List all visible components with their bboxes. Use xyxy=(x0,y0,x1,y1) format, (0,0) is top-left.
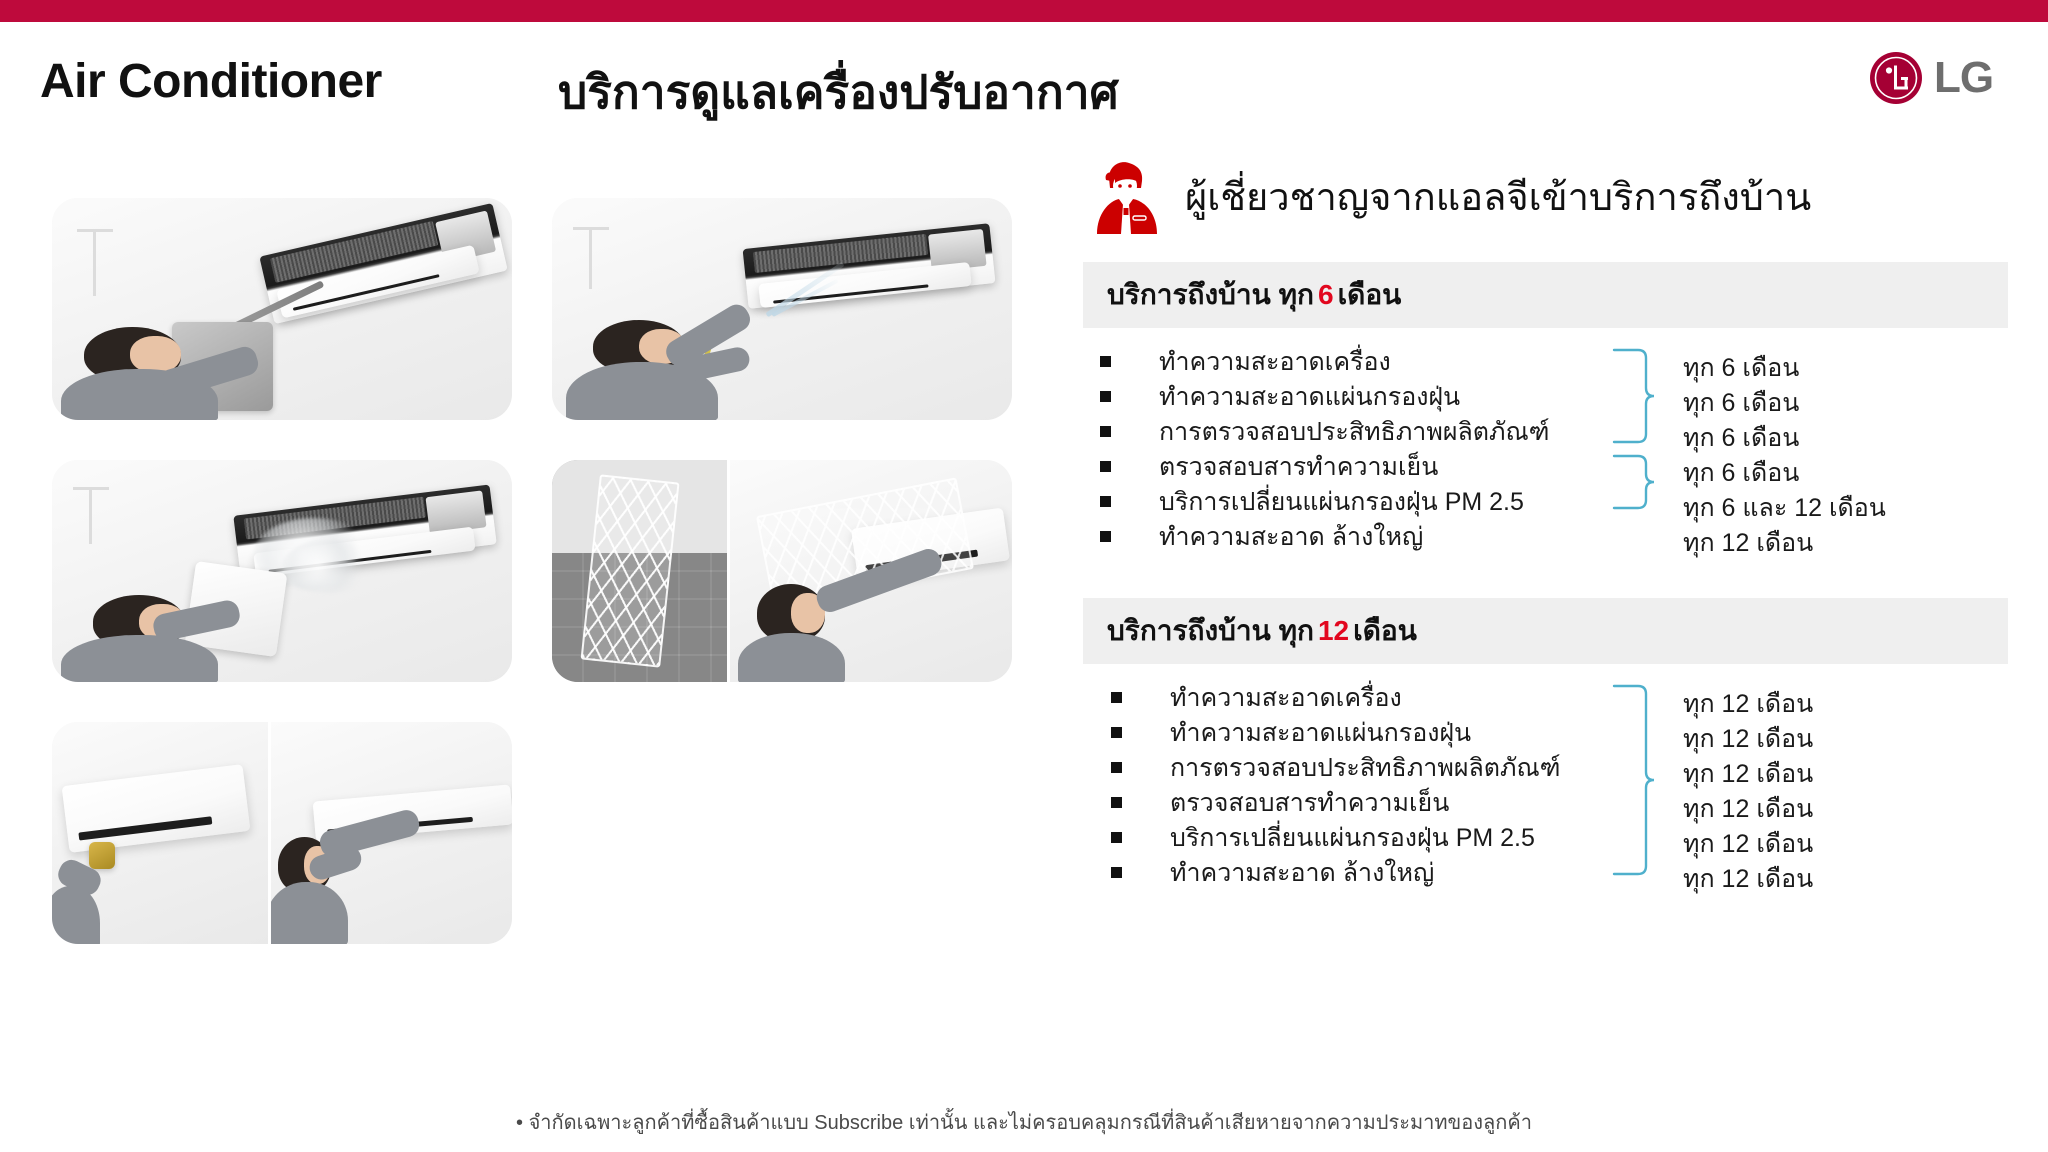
service-item-label: ตรวจสอบสารทำความเย็น xyxy=(1170,783,1449,823)
service-row: ตรวจสอบสารทำความเย็น ทุก 12 เดือน xyxy=(1083,785,2008,820)
page-title-en: Air Conditioner xyxy=(40,54,382,109)
service-item-value: ทุก 6 และ 12 เดือน xyxy=(1683,488,1886,528)
bullet-icon xyxy=(1111,867,1122,878)
bullet-icon xyxy=(1100,461,1111,472)
service-item-label: การตรวจสอบประสิทธิภาพผลิตภัณฑ์ xyxy=(1170,748,1560,788)
bullet-icon xyxy=(1111,692,1122,703)
lg-logo-text: LG xyxy=(1934,56,1993,100)
expert-banner: ผู้เชี่ยวชาญจากแอลจีเข้าบริการถึงบ้าน xyxy=(1089,148,2008,244)
photo-filter-replacement xyxy=(552,460,1012,682)
photo-spray-washing-coil xyxy=(552,198,1012,420)
section-header-suffix: เดือน xyxy=(1338,273,1402,317)
service-technician-icon xyxy=(1089,156,1163,236)
bullet-icon xyxy=(1100,391,1111,402)
service-row: การตรวจสอบประสิทธิภาพผลิตภัณฑ์ ทุก 12 เด… xyxy=(1083,750,2008,785)
bullet-icon xyxy=(1111,832,1122,843)
service-row: ทำความสะอาดเครื่อง ทุก 6 เดือน xyxy=(1083,344,2008,379)
service-item-value: ทุก 12 เดือน xyxy=(1683,824,1813,864)
service-row: ทำความสะอาดเครื่อง ทุก 12 เดือน xyxy=(1083,680,2008,715)
bullet-icon xyxy=(1100,531,1111,542)
service-item-value: ทุก 12 เดือน xyxy=(1683,754,1813,794)
section-service-every-12-months: บริการถึงบ้าน ทุก 12 เดือน ทำความสะอาดเค… xyxy=(1083,598,2008,890)
bullet-icon xyxy=(1111,727,1122,738)
bullet-icon xyxy=(1100,496,1111,507)
bullet-icon xyxy=(1111,762,1122,773)
section-header-6-months: บริการถึงบ้าน ทุก 6 เดือน xyxy=(1083,262,2008,328)
service-item-label: ทำความสะอาดแผ่นกรองฝุ่น xyxy=(1170,713,1471,753)
lg-logo: LG xyxy=(1868,48,2018,108)
service-item-label: บริการเปลี่ยนแผ่นกรองฝุ่น PM 2.5 xyxy=(1170,818,1535,858)
service-item-label: ตรวจสอบสารทำความเย็น xyxy=(1159,447,1438,487)
photo-grid xyxy=(52,198,1052,1098)
top-accent-bar xyxy=(0,0,2048,22)
service-row: บริการเปลี่ยนแผ่นกรองฝุ่น PM 2.5 ทุก 12 … xyxy=(1083,820,2008,855)
service-row: การตรวจสอบประสิทธิภาพผลิตภัณฑ์ ทุก 6 เดื… xyxy=(1083,414,2008,449)
photo-vacuum-cleaning-open-unit xyxy=(52,198,512,420)
service-item-value: ทุก 6 เดือน xyxy=(1683,418,1799,458)
service-item-label: การตรวจสอบประสิทธิภาพผลิตภัณฑ์ xyxy=(1159,412,1549,452)
bullet-icon xyxy=(1100,356,1111,367)
section-service-every-6-months: บริการถึงบ้าน ทุก 6 เดือน ทำความสะอาดเคร… xyxy=(1083,262,2008,554)
service-item-value: ทุก 12 เดือน xyxy=(1683,684,1813,724)
service-item-value: ทุก 6 เดือน xyxy=(1683,453,1799,493)
page-header: Air Conditioner บริการดูแลเครื่องปรับอาก… xyxy=(0,22,2048,122)
service-item-label: ทำความสะอาด ล้างใหญ่ xyxy=(1159,517,1423,557)
section-header-highlight: 6 xyxy=(1318,279,1334,311)
expert-banner-text: ผู้เชี่ยวชาญจากแอลจีเข้าบริการถึงบ้าน xyxy=(1185,166,1811,227)
service-row: บริการเปลี่ยนแผ่นกรองฝุ่น PM 2.5 ทุก 6 แ… xyxy=(1083,484,2008,519)
section-header-suffix: เดือน xyxy=(1353,609,1417,653)
section-header-prefix: บริการถึงบ้าน ทุก xyxy=(1107,609,1314,653)
service-item-label: ทำความสะอาดเครื่อง xyxy=(1159,342,1391,382)
service-row-list-6: ทำความสะอาดเครื่อง ทุก 6 เดือน ทำความสะอ… xyxy=(1083,344,2008,554)
section-header-12-months: บริการถึงบ้าน ทุก 12 เดือน xyxy=(1083,598,2008,664)
service-row-list-12: ทำความสะอาดเครื่อง ทุก 12 เดือน ทำความสะ… xyxy=(1083,680,2008,890)
bullet-icon xyxy=(1100,426,1111,437)
photo-final-inspection xyxy=(52,722,512,944)
footer-note: • จำกัดเฉพาะลูกค้าที่ซื้อสินค้าแบบ Subsc… xyxy=(0,1106,2048,1138)
service-item-value: ทุก 12 เดือน xyxy=(1683,523,1813,563)
service-item-value: ทุก 6 เดือน xyxy=(1683,348,1799,388)
service-row: ทำความสะอาดแผ่นกรองฝุ่น ทุก 12 เดือน xyxy=(1083,715,2008,750)
service-row: ทำความสะอาด ล้างใหญ่ ทุก 12 เดือน xyxy=(1083,855,2008,890)
service-item-value: ทุก 12 เดือน xyxy=(1683,789,1813,829)
service-item-value: ทุก 12 เดือน xyxy=(1683,719,1813,759)
page-title-th: บริการดูแลเครื่องปรับอากาศ xyxy=(558,56,1119,129)
service-item-label: ทำความสะอาดเครื่อง xyxy=(1170,678,1402,718)
section-header-prefix: บริการถึงบ้าน ทุก xyxy=(1107,273,1314,317)
service-item-label: ทำความสะอาด ล้างใหญ่ xyxy=(1170,853,1434,893)
bullet-icon xyxy=(1111,797,1122,808)
lg-logo-mark-icon xyxy=(1868,50,1924,106)
service-item-label: ทำความสะอาดแผ่นกรองฝุ่น xyxy=(1159,377,1460,417)
section-header-highlight: 12 xyxy=(1318,615,1349,647)
photo-steam-cleaning-panel xyxy=(52,460,512,682)
service-item-value: ทุก 12 เดือน xyxy=(1683,859,1813,899)
service-row: ตรวจสอบสารทำความเย็น ทุก 6 เดือน xyxy=(1083,449,2008,484)
service-row: ทำความสะอาดแผ่นกรองฝุ่น ทุก 6 เดือน xyxy=(1083,379,2008,414)
service-details-panel: ผู้เชี่ยวชาญจากแอลจีเข้าบริการถึงบ้าน บร… xyxy=(1083,148,2008,890)
service-item-value: ทุก 6 เดือน xyxy=(1683,383,1799,423)
service-item-label: บริการเปลี่ยนแผ่นกรองฝุ่น PM 2.5 xyxy=(1159,482,1524,522)
